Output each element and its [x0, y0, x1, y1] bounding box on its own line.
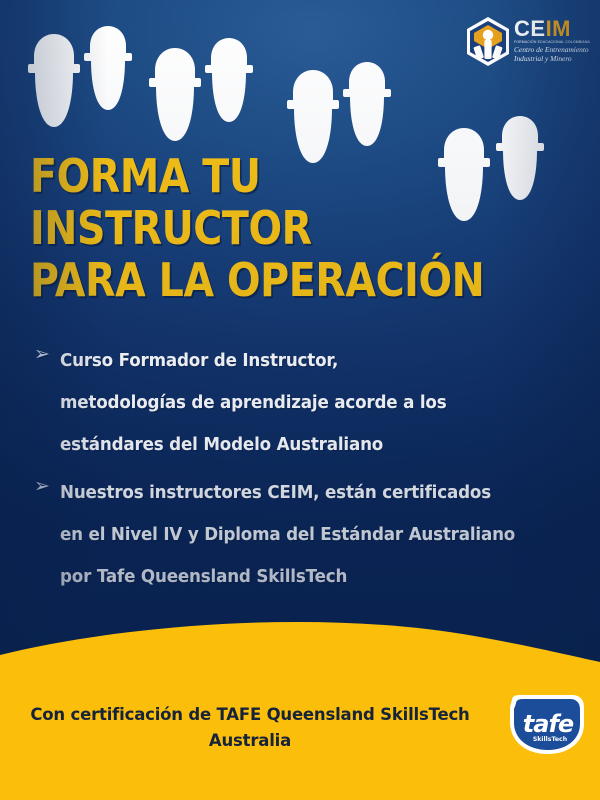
ceim-word-ce: CE [514, 16, 546, 41]
poster-canvas: CEIM FORMACIÓN EDUCACIONAL COLOMBIANA Ce… [0, 0, 600, 800]
bullet-2-line-2: en el Nivel IV y Diploma del Estándar Au… [60, 514, 538, 556]
list-item: ➢ Nuestros instructores CEIM, están cert… [34, 472, 574, 598]
tafe-logo: tafe SkillsTech [504, 694, 588, 760]
headline-line-2: INSTRUCTOR [30, 202, 434, 254]
arrow-bullet-icon: ➢ [34, 472, 60, 496]
ceim-word-im: IM [546, 16, 571, 41]
bullet-2-line-3: por Tafe Queensland SkillsTech [60, 556, 538, 598]
bullet-text: Curso Formador de Instructor, metodologí… [60, 340, 538, 466]
ceim-tagline-line1: Centro de Entrenamiento [514, 45, 594, 54]
bullet-text: Nuestros instructores CEIM, están certif… [60, 472, 538, 598]
footer-line-1: Con certificación de TAFE Queensland Ski… [0, 702, 500, 728]
bullet-1-line-1: Curso Formador de Instructor, [60, 340, 538, 382]
ceim-tagline-line2: Industrial y Minero [514, 54, 594, 63]
bullet-1-line-2: metodologías de aprendizaje acorde a los [60, 382, 538, 424]
svg-text:SkillsTech: SkillsTech [533, 736, 567, 743]
footer-line-2: Australia [0, 728, 500, 754]
headline-line-1: FORMA TU [30, 150, 434, 202]
headline-line-3: PARA LA OPERACIÓN [30, 254, 434, 306]
footer-certification-text: Con certificación de TAFE Queensland Ski… [0, 702, 500, 754]
ceim-logo: CEIM FORMACIÓN EDUCACIONAL COLOMBIANA Ce… [462, 14, 594, 76]
hard-hat-worker-icon [145, 34, 295, 157]
bullet-2-line-1: Nuestros instructores CEIM, están certif… [60, 472, 538, 514]
arrow-bullet-icon: ➢ [34, 340, 60, 364]
ceim-wordmark: CEIM FORMACIÓN EDUCACIONAL COLOMBIANA Ce… [514, 18, 594, 63]
svg-text:tafe: tafe [523, 710, 574, 738]
ceim-hexagon-mark [462, 16, 514, 68]
hard-hat-worker-icon [432, 112, 587, 237]
bullet-1-line-3: estándares del Modelo Australiano [60, 424, 538, 466]
bullet-list: ➢ Curso Formador de Instructor, metodolo… [34, 340, 574, 604]
poster-headline: FORMA TU INSTRUCTOR PARA LA OPERACIÓN [30, 150, 434, 306]
list-item: ➢ Curso Formador de Instructor, metodolo… [34, 340, 574, 466]
